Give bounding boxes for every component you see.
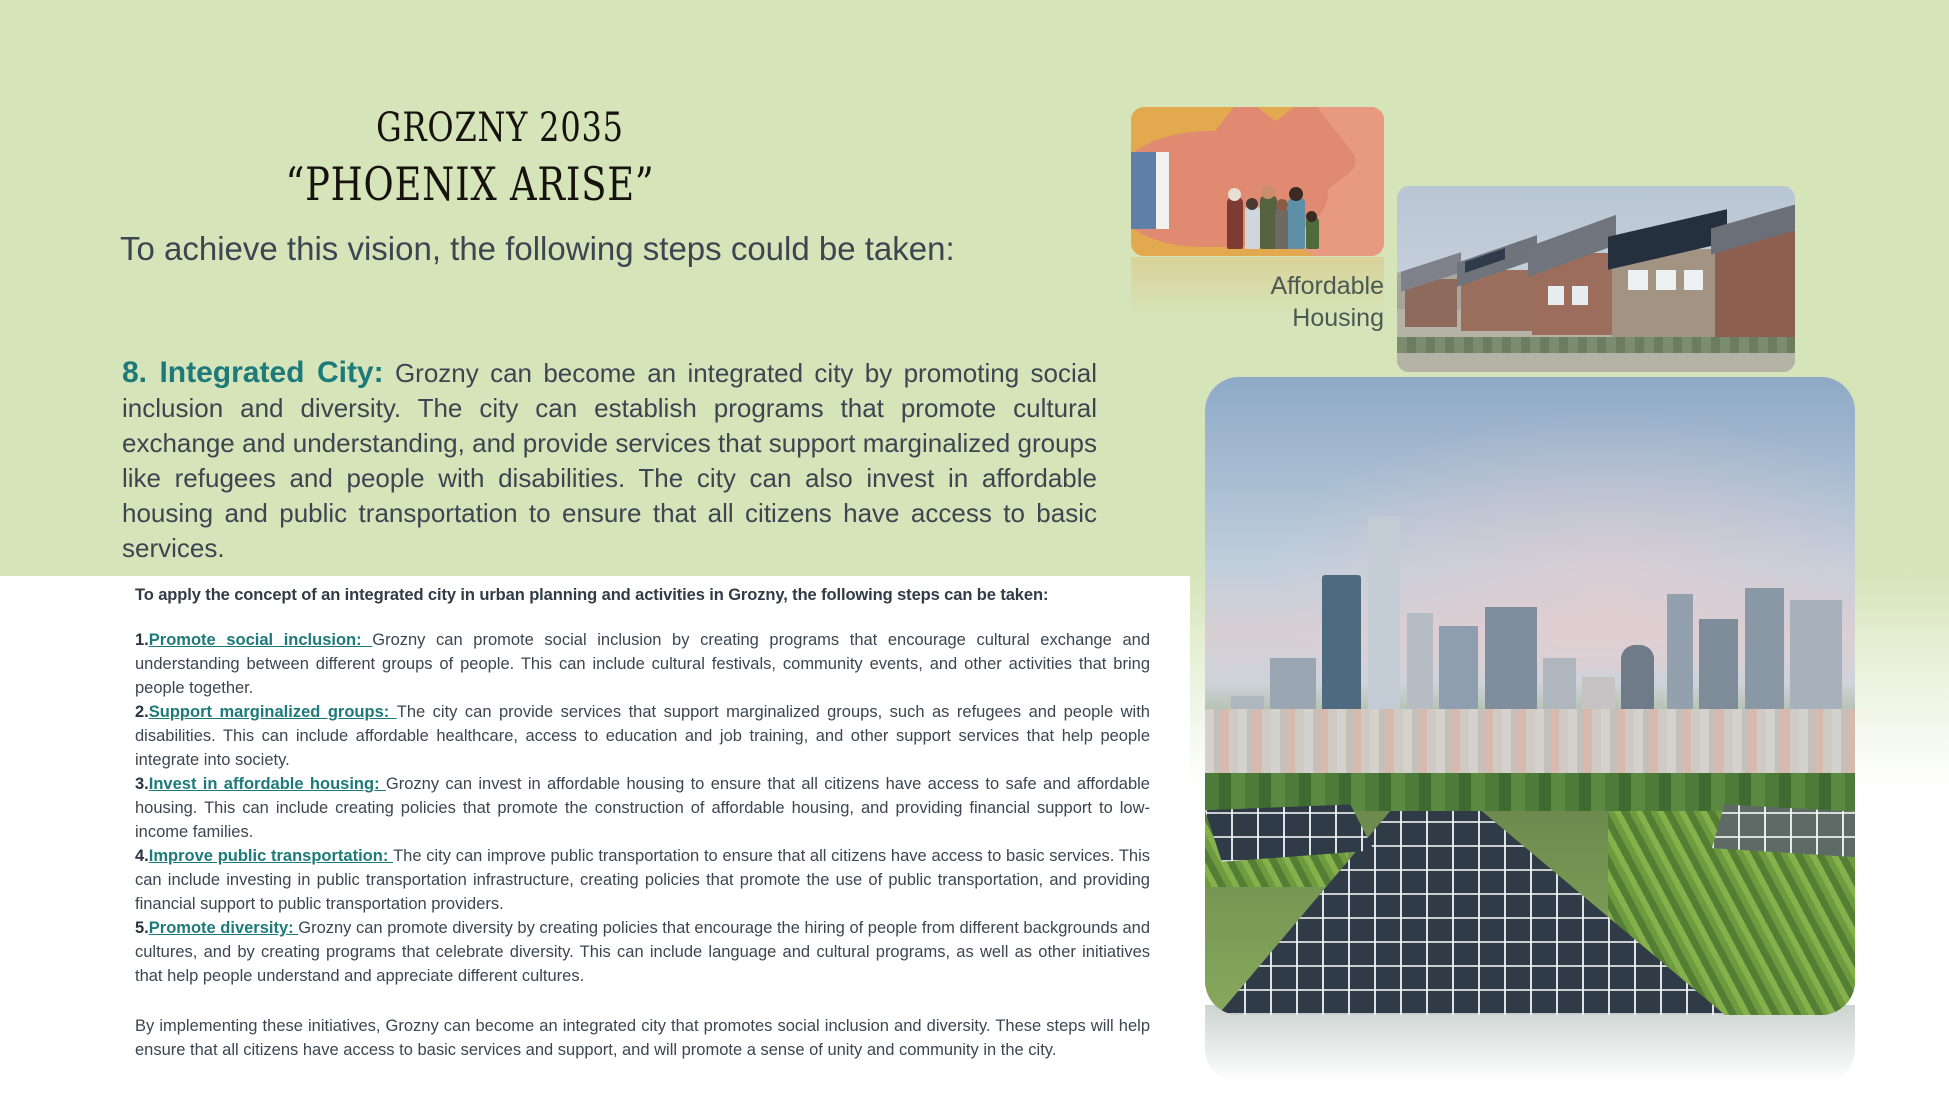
- affordable-housing-caption-line1: Affordable: [1131, 270, 1384, 302]
- window: [1628, 270, 1648, 290]
- lower-text-column: To apply the concept of an integrated ci…: [135, 584, 1150, 1062]
- list-item: 2.Support marginalized groups: The city …: [135, 700, 1150, 772]
- list-item-index: 1.: [135, 631, 149, 649]
- city-photo-reflection: [1205, 1005, 1855, 1083]
- window: [1572, 286, 1588, 305]
- family-figure-head: [1289, 187, 1303, 201]
- title-block: GROZNY 2035 “PHOENIX ARISE” To achieve t…: [120, 104, 1080, 270]
- section-heading: 8. Integrated City:: [122, 356, 384, 389]
- list-item: 5.Promote diversity: Grozny can promote …: [135, 916, 1150, 988]
- affordable-housing-caption: Affordable Housing: [1131, 270, 1384, 334]
- list-item-heading: Promote social inclusion:: [149, 631, 372, 649]
- list-item-heading: Support marginalized groups:: [149, 703, 397, 721]
- affordable-housing-illustration: [1131, 107, 1384, 256]
- list-item: 3.Invest in affordable housing: Grozny c…: [135, 772, 1150, 844]
- city-solar-photo: [1205, 377, 1855, 1015]
- list-item: 1.Promote social inclusion: Grozny can p…: [135, 628, 1150, 700]
- list-item: 4.Improve public transportation: The cit…: [135, 844, 1150, 916]
- shrub-row: [1397, 337, 1795, 354]
- family-figure-head: [1246, 198, 1258, 210]
- sleeve-cuff-inner-shape: [1156, 152, 1169, 229]
- section-paragraph: 8. Integrated City: Grozny can become an…: [122, 355, 1097, 566]
- family-figure: [1227, 197, 1243, 249]
- family-figure-head: [1306, 211, 1317, 222]
- slide-subtitle: To achieve this vision, the following st…: [120, 228, 1080, 270]
- list-item-index: 3.: [135, 775, 149, 793]
- list-item-index: 2.: [135, 703, 149, 721]
- slide-title-sub: “PHOENIX ARISE”: [0, 156, 958, 212]
- window: [1684, 270, 1704, 290]
- affordable-housing-caption-line2: Housing: [1131, 302, 1384, 334]
- list-item-index: 5.: [135, 919, 149, 937]
- window: [1656, 270, 1676, 290]
- family-figure: [1245, 205, 1260, 249]
- list-item-heading: Improve public transportation:: [149, 847, 393, 865]
- list-item-heading: Promote diversity:: [149, 919, 298, 937]
- closing-paragraph: By implementing these initiatives, Grozn…: [135, 1014, 1150, 1062]
- list-item-heading: Invest in affordable housing:: [149, 775, 386, 793]
- townhouses-photo: [1397, 186, 1795, 372]
- slide-title-main: GROZNY 2035: [36, 104, 964, 152]
- family-figure: [1288, 197, 1305, 249]
- lower-intro-line: To apply the concept of an integrated ci…: [135, 584, 1150, 606]
- window: [1548, 286, 1564, 305]
- list-item-index: 4.: [135, 847, 149, 865]
